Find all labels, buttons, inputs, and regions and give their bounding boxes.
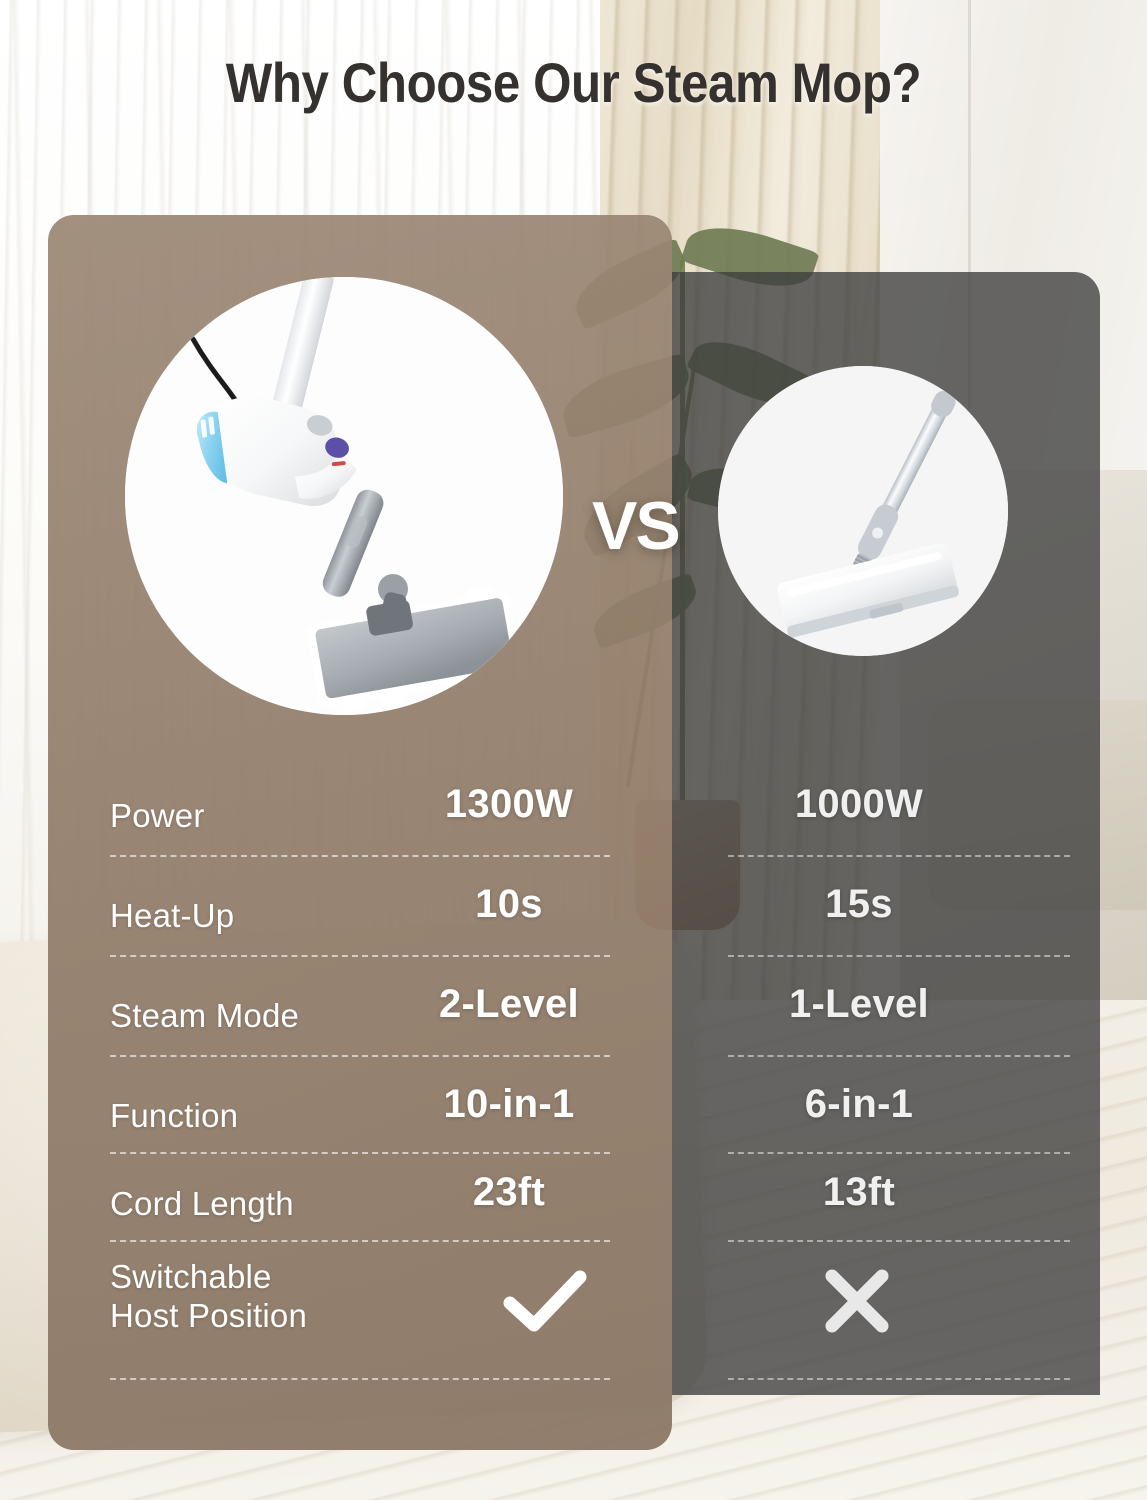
spec-divider xyxy=(110,955,610,957)
spec-value-steam-mode-theirs: 1-Level xyxy=(728,982,990,1027)
spec-value-cord-length-ours: 23ft xyxy=(378,1170,640,1215)
vs-label: VS xyxy=(592,487,679,565)
spec-divider xyxy=(110,1055,610,1057)
spec-value-function-theirs: 6-in-1 xyxy=(728,1082,990,1127)
spec-divider xyxy=(728,855,1070,857)
spec-value-function-ours: 10-in-1 xyxy=(378,1082,640,1127)
page-title: Why Choose Our Steam Mop? xyxy=(69,50,1078,115)
spec-label-switchable-host-position: Switchable Host Position xyxy=(110,1258,307,1336)
spec-value-steam-mode-ours: 2-Level xyxy=(378,982,640,1027)
competitor-specs-list: 1000W 15s 1-Level 6-in-1 13ft xyxy=(672,272,1100,1395)
spec-label-function: Function xyxy=(110,1097,238,1136)
spec-label-cord-length: Cord Length xyxy=(110,1185,294,1224)
cross-mark-icon xyxy=(818,1262,896,1345)
spec-label-heatup: Heat-Up xyxy=(110,897,234,936)
spec-divider xyxy=(110,1152,610,1154)
spec-value-heatup-theirs: 15s xyxy=(728,882,990,927)
our-specs-list: Power 1300W Heat-Up 10s Steam Mode 2-Lev… xyxy=(48,215,672,1450)
check-mark-icon xyxy=(500,1263,590,1346)
spec-value-power-ours: 1300W xyxy=(378,782,640,827)
spec-divider xyxy=(728,1240,1070,1242)
spec-divider xyxy=(110,1378,610,1380)
spec-value-heatup-ours: 10s xyxy=(378,882,640,927)
spec-value-cord-length-theirs: 13ft xyxy=(728,1170,990,1215)
spec-divider xyxy=(728,1152,1070,1154)
spec-divider xyxy=(110,855,610,857)
spec-label-steam-mode: Steam Mode xyxy=(110,997,299,1036)
spec-divider xyxy=(110,1240,610,1242)
spec-label-power: Power xyxy=(110,797,205,836)
spec-value-power-theirs: 1000W xyxy=(728,782,990,827)
spec-divider xyxy=(728,1055,1070,1057)
spec-divider xyxy=(728,955,1070,957)
spec-divider xyxy=(728,1378,1070,1380)
